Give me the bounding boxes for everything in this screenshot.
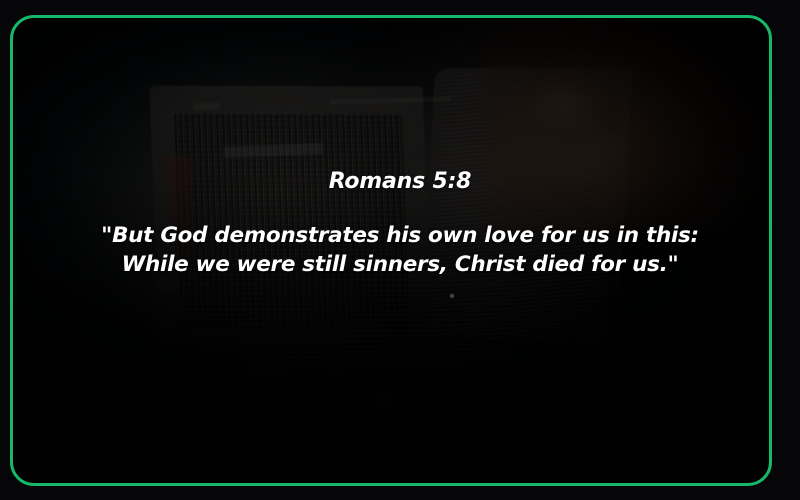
verse-quote: "But God demonstrates his own love for u… xyxy=(50,221,750,279)
verse-text-overlay: Romans 5:8 "But God demonstrates his own… xyxy=(0,0,800,500)
verse-card-canvas: Romans 5:8 "But God demonstrates his own… xyxy=(0,0,800,500)
verse-quote-line-2: While we were still sinners, Christ died… xyxy=(50,250,750,279)
verse-quote-line-1: "But God demonstrates his own love for u… xyxy=(50,221,750,250)
verse-reference: Romans 5:8 xyxy=(329,168,472,196)
